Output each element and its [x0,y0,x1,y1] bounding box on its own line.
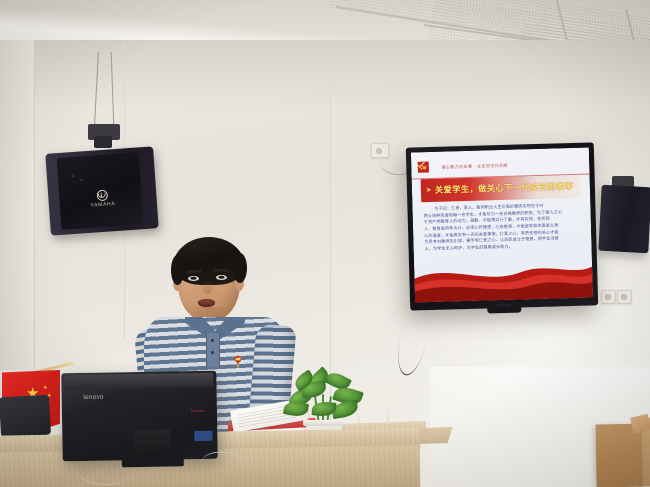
eye-right [216,275,227,280]
hair-side-left [171,255,184,285]
flag-small-star: ★ [43,386,47,391]
plant-leaf [283,400,309,418]
yamaha-speaker-left: YAMAHA [45,146,158,235]
hair-side-right [233,253,247,283]
slide-title: 关爱学生，做关心下一代成长的表率 [435,180,576,196]
shirt-button [211,351,214,354]
presentation-slide: 凝心聚力办实事 · 立足岗位作贡献 ➤ 关爱学生，做关心下一代成长的表率 为子曰… [411,148,593,303]
room-photo-scene: YAMAHA [0,0,650,487]
speaker-right [598,185,650,254]
nose [203,281,212,294]
wall-socket-right-b[interactable] [617,290,632,304]
mouth-speaking [198,299,215,307]
cardboard-box [595,414,650,487]
slide-title-bar: ➤ 关爱学生，做关心下一代成长的表率 [421,175,582,202]
shirt-button [211,339,214,342]
party-badge-pin [232,355,244,369]
tv-brand-mark: Hisense [497,303,511,307]
yamaha-tuning-fork-icon [96,190,108,202]
wall-socket-right-a[interactable] [601,290,616,304]
wall-panel-left [0,40,35,370]
chair-backrest [0,395,51,438]
tv-screen[interactable]: 凝心聚力办实事 · 立足岗位作贡献 ➤ 关爱学生，做关心下一代成长的表率 为子曰… [411,148,593,303]
box-front-panel [596,424,643,487]
wall-mounted-tv[interactable]: 凝心聚力办实事 · 立足岗位作贡献 ➤ 关爱学生，做关心下一代成长的表率 为子曰… [406,142,598,310]
slide-header-text: 凝心聚力办实事 · 立足岗位作贡献 [441,163,508,171]
eye-left [188,276,199,281]
monitor-vga-port [194,431,213,442]
lenovo-logo: lenovo [83,394,103,401]
slide-red-ribbon-graphic [414,256,593,303]
yamaha-logo: YAMAHA [89,189,115,209]
arrow-bullet-icon: ➤ [426,187,432,194]
lenovo-monitor[interactable]: lenovo lenovo [61,371,218,462]
monitor-red-badge: lenovo [191,408,205,413]
tv-bottom-mount [487,306,521,313]
party-emblem-icon [417,161,429,173]
plant-pot-rim [303,420,345,426]
speaker-mount-arm [94,136,112,148]
slide-body-text: 为子曰：仁者，爱人。教师职业人生价值的最终实现在于对 两心培养热爱和每一名学生，… [423,202,583,253]
monitor-top-panel [64,372,213,389]
